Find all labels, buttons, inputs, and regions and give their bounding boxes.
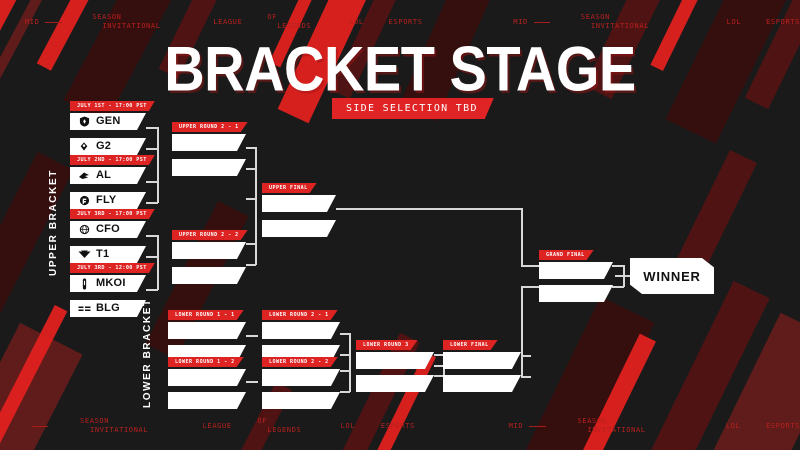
match-title-lower-final: LOWER FINAL [443,340,498,350]
team-row-fly[interactable]: FLY [70,192,146,209]
match-slot-lower-final-b[interactable] [443,375,521,392]
match-slot-lower-r2-2-b[interactable] [262,392,340,409]
match-title-upper-round-2-1: UPPER ROUND 2 - 1 [172,122,248,132]
match-slot-lower-r3-b[interactable] [356,375,434,392]
bracket-stage-graphic: MID SEASONINVITATIONAL LEAGUE OFLEGENDS … [0,0,800,450]
team-name: FLY [96,195,116,206]
fly-circle-icon [77,194,91,207]
date-pill-2: JULY 2ND - 17:00 PST [70,155,155,165]
match-slot-lower-r1-2-b[interactable] [168,392,246,409]
gen-g-shield-icon [77,115,91,128]
match-slot-lower-r3-a[interactable] [356,352,434,369]
winner-label: WINNER [643,269,700,284]
match-title-lower-round-3: LOWER ROUND 3 [356,340,418,350]
team-name: AL [96,170,111,181]
match-slot-grand-final-a[interactable] [539,262,613,279]
match-title-lower-round-2-1: LOWER ROUND 2 - 1 [262,310,338,320]
match-slot-lower-r1-1-a[interactable] [168,322,246,339]
mkoi-pillar-icon [77,277,91,290]
team-name: T1 [96,249,109,260]
upper-bracket-label: UPPER BRACKET [48,158,59,276]
page-title: BRACKET STAGE [0,38,800,101]
match-title-upper-round-2-2: UPPER ROUND 2 - 2 [172,230,248,240]
match-slot-upper-r2-1-a[interactable] [172,134,246,151]
match-slot-lower-r1-2-a[interactable] [168,369,246,386]
match-slot-lower-r2-2-a[interactable] [262,369,340,386]
date-pill-1: JULY 1ST - 17:00 PST [70,101,155,111]
match-title-lower-round-1-2: LOWER ROUND 1 - 2 [168,357,244,367]
match-slot-upper-r2-2-b[interactable] [172,267,246,284]
team-row-t1[interactable]: T1 [70,246,146,263]
match-slot-lower-r2-1-a[interactable] [262,322,340,339]
match-title-lower-round-1-1: LOWER ROUND 1 - 1 [168,310,244,320]
team-row-blg[interactable]: BLG [70,300,146,317]
al-wing-icon [77,169,91,182]
team-row-gen[interactable]: GEN [70,113,146,130]
match-title-lower-round-2-2: LOWER ROUND 2 - 2 [262,357,338,367]
cfo-globe-icon [77,223,91,236]
team-name: BLG [96,303,120,314]
team-name: CFO [96,224,120,235]
match-slot-grand-final-b[interactable] [539,285,613,302]
winner-box[interactable]: WINNER [630,258,714,294]
match-slot-upper-r2-1-b[interactable] [172,159,246,176]
match-slot-upper-final-b[interactable] [262,220,336,237]
team-row-cfo[interactable]: CFO [70,221,146,238]
lower-bracket-label: LOWER BRACKET [142,316,153,408]
team-row-al[interactable]: AL [70,167,146,184]
date-pill-3: JULY 3RD - 17:00 PST [70,209,155,219]
team-name: MKOI [96,278,126,289]
match-title-upper-final: UPPER FINAL [262,183,317,193]
team-row-mkoi[interactable]: MKOI [70,275,146,292]
g2-diamond-icon [77,140,91,153]
side-selection-banner: SIDE SELECTION TBD [332,98,494,119]
team-row-g2[interactable]: G2 [70,138,146,155]
team-name: G2 [96,141,111,152]
blg-bars-icon [77,302,91,315]
match-title-grand-final: GRAND FINAL [539,250,594,260]
t1-chevron-icon [77,248,91,261]
match-slot-upper-r2-2-a[interactable] [172,242,246,259]
date-pill-4: JULY 3RD - 12:00 PST [70,263,155,273]
team-name: GEN [96,116,121,127]
match-slot-upper-final-a[interactable] [262,195,336,212]
match-slot-lower-final-a[interactable] [443,352,521,369]
